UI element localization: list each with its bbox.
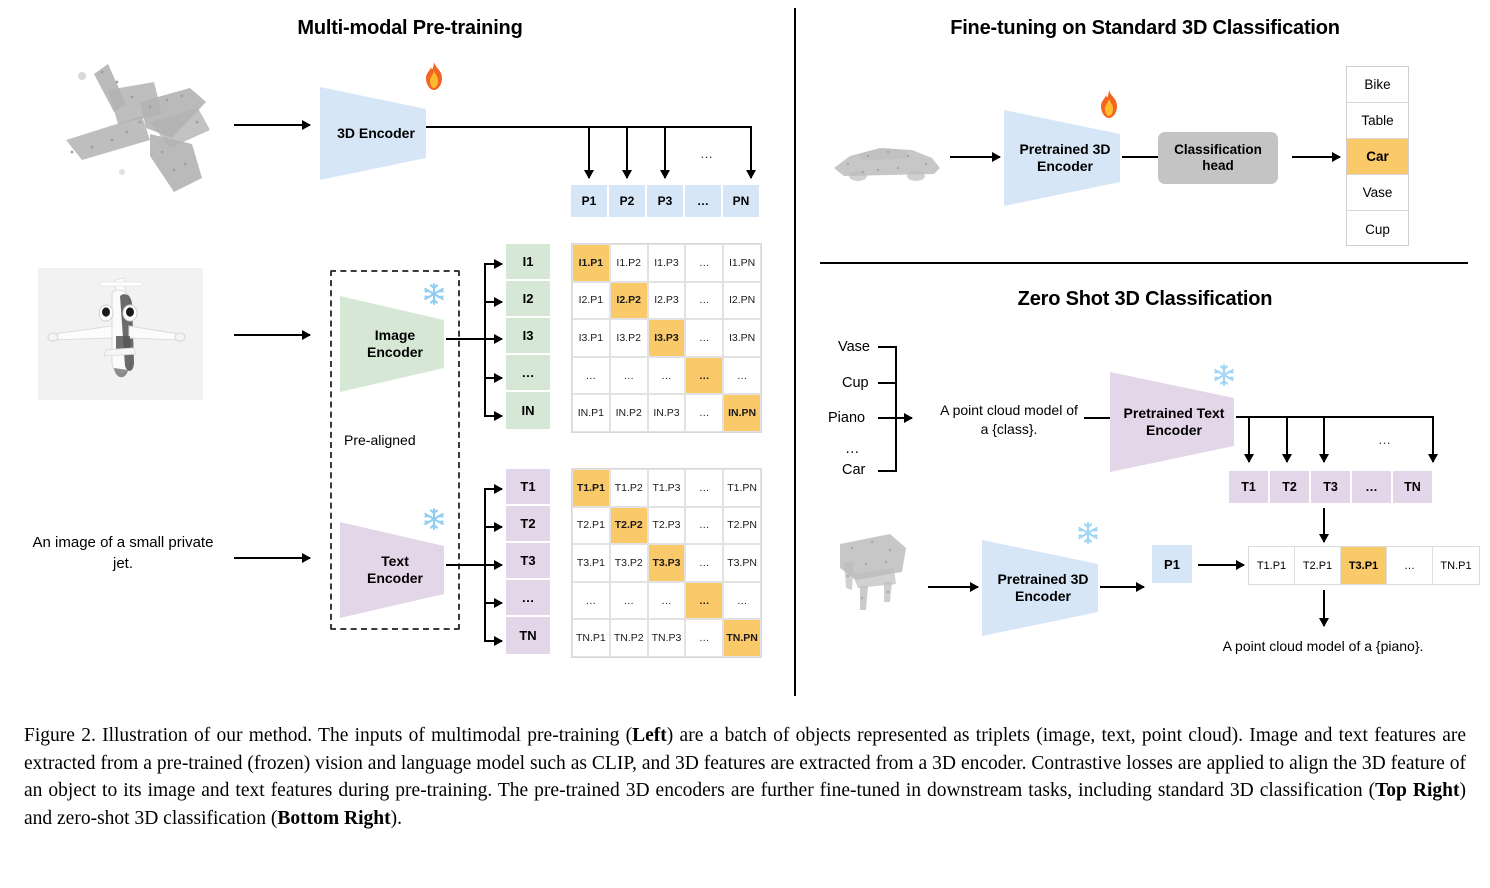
matrix-cell: … <box>685 244 723 282</box>
matrix-cell: … <box>685 469 723 507</box>
candidate-class-vase: Vase <box>838 339 870 355</box>
fire-icon <box>423 62 445 90</box>
pretrained-3d-encoder-zeroshot-label: Pretrained 3D Encoder <box>993 571 1092 604</box>
matrix-cell: … <box>572 357 610 395</box>
pretrained-text-encoder-label: Pretrained Text Encoder <box>1120 405 1229 438</box>
class-prediction-list: BikeTableCarVaseCup <box>1346 66 1409 246</box>
encoder-3d-label: 3D Encoder <box>333 125 419 142</box>
arrow-to-pn <box>750 126 752 178</box>
matrix-cell: T2.P2 <box>610 507 648 545</box>
text-input-caption: An image of a small private jet. <box>30 533 216 574</box>
arrow-zs-encoder-to-p1 <box>1100 586 1144 588</box>
arrow-to-i1 <box>484 263 502 265</box>
caption-bold-left: Left <box>632 725 667 746</box>
class-bracket-spine <box>895 346 897 472</box>
matrix-cell: I3.PN <box>723 319 761 357</box>
matrix-cell: … <box>610 357 648 395</box>
matrix-cell: I1.P3 <box>648 244 686 282</box>
text-feature-cell: T1 <box>506 469 550 506</box>
matrix-cell: … <box>685 544 723 582</box>
ft-enc-line1: Pretrained 3D <box>1019 141 1110 157</box>
zs-similarity-cell: TN.P1 <box>1433 547 1479 584</box>
matrix-cell: … <box>685 394 723 432</box>
text-feature-column: T1 T2 T3 … TN <box>506 469 550 654</box>
image-feature-cell: … <box>506 355 550 392</box>
panel-divider-vertical <box>794 8 796 696</box>
caption-part1: Figure 2. Illustration of our method. Th… <box>24 725 632 746</box>
image-feature-column: I1 I2 I3 … IN <box>506 244 550 429</box>
matrix-cell: T2.PN <box>723 507 761 545</box>
text-feature-cell: TN <box>506 617 550 654</box>
encoder-text-label-line1: Text <box>381 553 409 569</box>
matrix-cell: … <box>685 282 723 320</box>
arrow-to-p2 <box>626 126 628 178</box>
prompt-line2: a {class}. <box>981 421 1038 437</box>
candidate-class-car: Car <box>842 462 865 478</box>
point-cloud-airplane-input <box>22 52 252 212</box>
pretrained-3d-encoder-zeroshot: Pretrained 3D Encoder <box>982 540 1104 636</box>
matrix-cell: … <box>648 357 686 395</box>
matrix-cell: TN.PN <box>723 619 761 657</box>
top-right-panel-title: Fine-tuning on Standard 3D Classificatio… <box>860 17 1430 40</box>
snowflake-icon <box>422 282 446 306</box>
arrow-to-tellipsis <box>484 602 502 604</box>
arrow-head-to-classlist <box>1292 156 1340 158</box>
candidate-class-ellipsis: … <box>845 441 860 457</box>
zs-text-feature-cell: T3 <box>1310 470 1351 504</box>
matrix-cell: … <box>723 357 761 395</box>
zs-similarity-cell: … <box>1387 547 1433 584</box>
arrow-car-to-encoder <box>950 156 1000 158</box>
matrix-cell: … <box>723 582 761 620</box>
arrow-to-p1 <box>588 126 590 178</box>
class-bracket-tick-cup <box>878 382 897 384</box>
class-bracket-tick-vase <box>878 346 897 348</box>
matrix-cell: … <box>685 357 723 395</box>
text-point-similarity-matrix: T1.P1T1.P2T1.P3…T1.PNT2.P1T2.P2T2.P3…T2.… <box>571 468 762 658</box>
matrix-cell: IN.P3 <box>648 394 686 432</box>
point-feature-cell: P2 <box>608 184 646 218</box>
image-feature-cell: I3 <box>506 318 550 355</box>
point-feature-cell: P1 <box>570 184 608 218</box>
matrix-cell: … <box>685 319 723 357</box>
matrix-cell: T2.P3 <box>648 507 686 545</box>
caption-bold-top-right: Top Right <box>1375 780 1459 801</box>
caption-bold-bottom-right: Bottom Right <box>277 808 390 829</box>
point-feature-cell: PN <box>722 184 760 218</box>
matrix-cell: TN.P3 <box>648 619 686 657</box>
text-feature-cell: T2 <box>506 506 550 543</box>
arrow-zs-to-tn <box>1432 416 1434 462</box>
left-panel-title: Multi-modal Pre-training <box>240 17 580 40</box>
point-cloud-piano-input <box>832 528 922 614</box>
zs-text-bus-ellipsis: … <box>1378 432 1391 447</box>
matrix-cell: I1.P2 <box>610 244 648 282</box>
classification-head: Classification head <box>1158 132 1278 184</box>
arrow-p1-to-similarity <box>1198 564 1244 566</box>
rendered-image-input <box>38 268 203 400</box>
arrow-to-i2 <box>484 301 502 303</box>
arrow-to-t2 <box>484 526 502 528</box>
arrow-to-p3 <box>664 126 666 178</box>
arrow-to-tn <box>484 640 502 642</box>
matrix-cell: I1.P1 <box>572 244 610 282</box>
figure-caption: Figure 2. Illustration of our method. Th… <box>24 722 1466 833</box>
image-feature-cell: I1 <box>506 244 550 281</box>
arrow-text-to-text-encoder <box>234 557 310 559</box>
pretrained-3d-encoder-finetune-label: Pretrained 3D Encoder <box>1015 141 1114 174</box>
zs-similarity-cell: T3.P1 <box>1341 547 1387 584</box>
zs-text-feature-cell: T1 <box>1228 470 1269 504</box>
matrix-cell: I2.P1 <box>572 282 610 320</box>
matrix-cell: I2.PN <box>723 282 761 320</box>
matrix-cell: T1.PN <box>723 469 761 507</box>
arrow-zs-to-t2 <box>1286 416 1288 462</box>
encoder-3d: 3D Encoder <box>320 87 432 180</box>
classification-head-label: Classification head <box>1174 142 1262 174</box>
zs-text-feature-cell: T2 <box>1269 470 1310 504</box>
p-bus-ellipsis: … <box>700 146 713 161</box>
head-line2: head <box>1202 158 1234 173</box>
arrow-to-t3 <box>484 564 502 566</box>
point-feature-cell: … <box>684 184 722 218</box>
matrix-cell: … <box>648 582 686 620</box>
class-list-item: Cup <box>1347 211 1408 247</box>
arrow-to-i3 <box>484 338 502 340</box>
snowflake-icon <box>1212 363 1236 387</box>
matrix-cell: I3.P1 <box>572 319 610 357</box>
point-feature-cell: P3 <box>646 184 684 218</box>
encoder-image-label-line2: Encoder <box>367 344 423 360</box>
zs-similarity-cell: T2.P1 <box>1295 547 1341 584</box>
arrow-to-in <box>484 415 502 417</box>
point-cloud-car-input <box>828 130 944 190</box>
arrow-image-to-image-encoder <box>234 334 310 336</box>
pretrained-text-encoder: Pretrained Text Encoder <box>1110 372 1238 472</box>
class-list-item: Vase <box>1347 175 1408 211</box>
matrix-cell: TN.P2 <box>610 619 648 657</box>
encoder-image-label: Image Encoder <box>363 327 427 360</box>
matrix-cell: I3.P2 <box>610 319 648 357</box>
zs-text-enc-line2: Encoder <box>1146 422 1202 438</box>
zs-3d-enc-line1: Pretrained 3D <box>997 571 1088 587</box>
encoder-text-label: Text Encoder <box>363 553 427 586</box>
matrix-cell: … <box>572 582 610 620</box>
arrow-similarity-to-result <box>1323 590 1325 626</box>
caption-part4: ). <box>391 808 402 829</box>
zs-similarity-row: T1.P1 T2.P1 T3.P1 … TN.P1 <box>1248 546 1480 585</box>
matrix-cell: IN.P1 <box>572 394 610 432</box>
class-list-item: Car <box>1347 139 1408 175</box>
arrow-zs-to-t1 <box>1248 416 1250 462</box>
snowflake-icon <box>1076 521 1100 545</box>
head-line1: Classification <box>1174 142 1262 157</box>
text-feature-cell: T3 <box>506 543 550 580</box>
matrix-cell: IN.PN <box>723 394 761 432</box>
class-list-item: Table <box>1347 103 1408 139</box>
matrix-cell: T1.P3 <box>648 469 686 507</box>
panel-divider-horizontal <box>820 262 1468 264</box>
bottom-right-panel-title: Zero Shot 3D Classification <box>880 288 1410 311</box>
matrix-cell: T1.P1 <box>572 469 610 507</box>
candidate-class-cup: Cup <box>842 375 869 391</box>
matrix-cell: … <box>610 582 648 620</box>
prompt-template: A point cloud model of a {class}. <box>914 401 1104 439</box>
image-encoder-out-line <box>446 338 484 340</box>
candidate-class-piano: Piano <box>828 410 865 426</box>
matrix-cell: … <box>685 507 723 545</box>
zs-3d-enc-line2: Encoder <box>1015 588 1071 604</box>
zs-text-feature-cell: TN <box>1392 470 1433 504</box>
matrix-cell: … <box>685 582 723 620</box>
ft-enc-line2: Encoder <box>1037 158 1093 174</box>
matrix-cell: T3.P3 <box>648 544 686 582</box>
matrix-cell: T2.P1 <box>572 507 610 545</box>
image-feature-cell: I2 <box>506 281 550 318</box>
figure-root: Multi-modal Pre-training 3D Encoder <box>0 0 1490 888</box>
zs-point-feature-cell: P1 <box>1152 545 1192 583</box>
prompt-line1: A point cloud model of <box>940 402 1078 418</box>
class-bracket-tick-car <box>878 470 897 472</box>
zero-shot-result: A point cloud model of a {piano}. <box>1188 638 1458 654</box>
matrix-cell: T3.P1 <box>572 544 610 582</box>
zs-text-enc-line1: Pretrained Text <box>1124 405 1225 421</box>
matrix-cell: T3.PN <box>723 544 761 582</box>
matrix-cell: IN.P2 <box>610 394 648 432</box>
matrix-cell: I3.P3 <box>648 319 686 357</box>
snowflake-icon <box>422 507 446 531</box>
matrix-cell: … <box>685 619 723 657</box>
fire-icon <box>1098 90 1120 118</box>
arrow-to-t1 <box>484 488 502 490</box>
text-encoder-out-line <box>446 564 484 566</box>
image-point-similarity-matrix: I1.P1I1.P2I1.P3…I1.PNI2.P1I2.P2I2.P3…I2.… <box>571 243 762 433</box>
point-feature-row: P1 P2 P3 … PN <box>570 184 760 218</box>
arrow-to-iellipsis <box>484 377 502 379</box>
zs-text-feature-row: T1 T2 T3 … TN <box>1228 470 1433 504</box>
arrow-piano-to-encoder <box>928 586 978 588</box>
matrix-cell: TN.P1 <box>572 619 610 657</box>
pretrained-3d-encoder-finetune: Pretrained 3D Encoder <box>1004 110 1126 206</box>
arrow-classes-to-prompt <box>878 417 912 419</box>
matrix-cell: I2.P3 <box>648 282 686 320</box>
zs-text-feature-cell: … <box>1351 470 1392 504</box>
encoder-text: Text Encoder <box>340 522 450 618</box>
text-feature-cell: … <box>506 580 550 617</box>
matrix-cell: I2.P2 <box>610 282 648 320</box>
matrix-cell: T1.P2 <box>610 469 648 507</box>
encoder-image: Image Encoder <box>340 296 450 392</box>
arrow-zs-to-t3 <box>1323 416 1325 462</box>
image-feature-cell: IN <box>506 392 550 429</box>
image-fanout-spine <box>484 264 486 416</box>
matrix-cell: I1.PN <box>723 244 761 282</box>
pre-aligned-label: Pre-aligned <box>344 432 416 448</box>
class-list-item: Bike <box>1347 67 1408 103</box>
zs-text-bus-line <box>1236 416 1434 418</box>
encoder-image-label-line1: Image <box>375 327 415 343</box>
matrix-cell: T3.P2 <box>610 544 648 582</box>
encoder-text-label-line2: Encoder <box>367 570 423 586</box>
arrow-tfeatures-to-similarity <box>1323 508 1325 542</box>
arrow-pointcloud-to-3d-encoder <box>234 124 310 126</box>
zs-similarity-cell: T1.P1 <box>1249 547 1295 584</box>
